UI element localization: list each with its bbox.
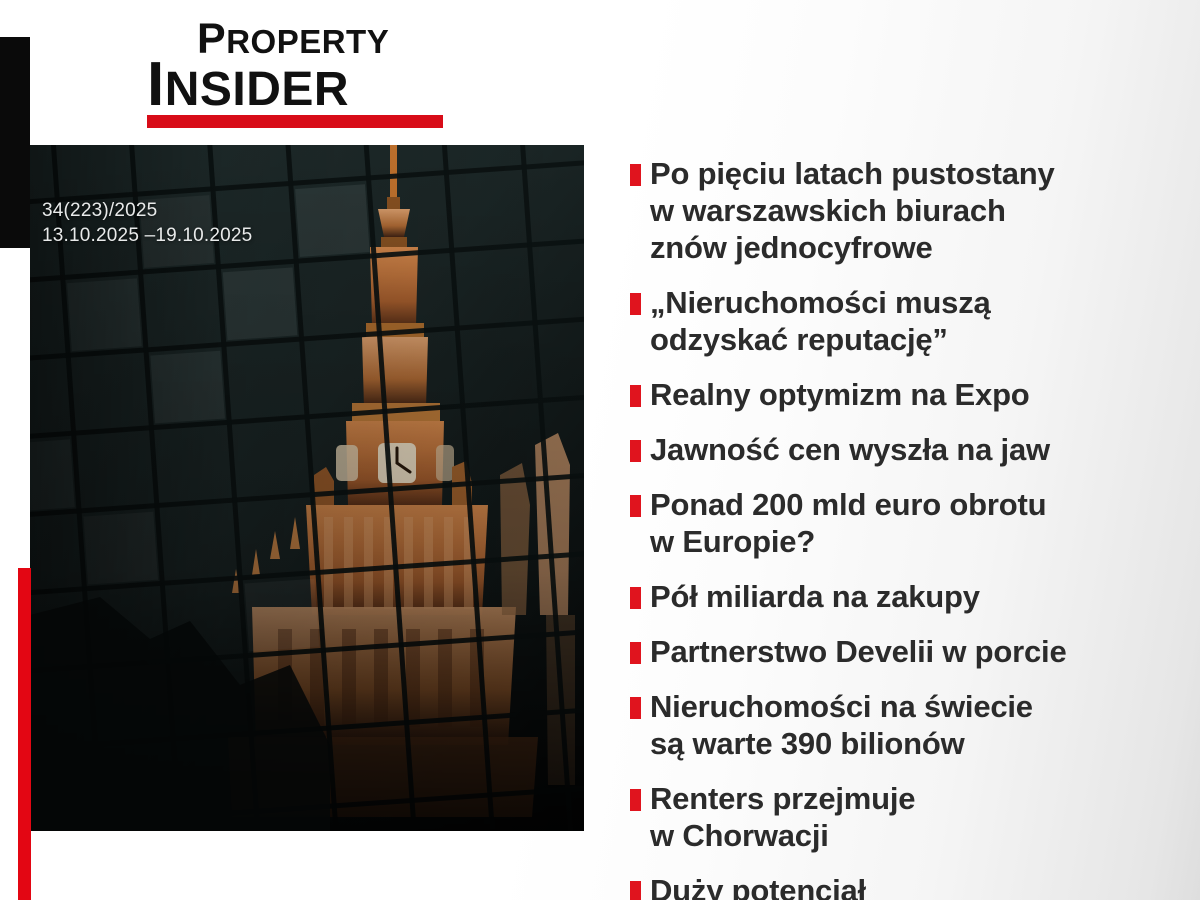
headline-line: są warte 390 bilionów <box>650 725 1033 762</box>
headline-line: odzyskać reputację” <box>650 321 991 358</box>
bullet-square-icon <box>630 881 641 900</box>
headline-text: Jawność cen wyszła na jaw <box>650 431 1050 468</box>
headline-text: Partnerstwo Develii w porcie <box>650 633 1067 670</box>
headline-line: w Chorwacji <box>650 817 915 854</box>
headline-text: Pół miliarda na zakupy <box>650 578 980 615</box>
headline-item[interactable]: Po pięciu latach pustostanyw warszawskic… <box>630 155 1175 266</box>
headline-item[interactable]: Pół miliarda na zakupy <box>630 578 1175 615</box>
left-red-accent-bar <box>18 568 31 900</box>
headline-text: Po pięciu latach pustostanyw warszawskic… <box>650 155 1055 266</box>
headline-item[interactable]: Nieruchomości na świeciesą warte 390 bil… <box>630 688 1175 762</box>
bullet-square-icon <box>630 164 641 186</box>
headline-text: Renters przejmujew Chorwacji <box>650 780 915 854</box>
logo-insider-rest: NSIDER <box>165 63 349 116</box>
logo-red-underline <box>147 115 443 128</box>
logo-word-insider: INSIDER <box>147 54 349 121</box>
headline-line: Partnerstwo Develii w porcie <box>650 633 1067 670</box>
left-black-accent-block <box>0 37 30 248</box>
masthead-logo: PROPERTY INSIDER <box>147 18 447 130</box>
headline-item[interactable]: Partnerstwo Develii w porcie <box>630 633 1175 670</box>
headline-line: w warszawskich biurach <box>650 192 1055 229</box>
headline-text: Duży potencjałw studentach <box>650 872 866 900</box>
newsletter-cover: PROPERTY INSIDER <box>0 0 1200 900</box>
headline-line: Jawność cen wyszła na jaw <box>650 431 1050 468</box>
headline-item[interactable]: Jawność cen wyszła na jaw <box>630 431 1175 468</box>
bullet-square-icon <box>630 293 641 315</box>
headline-text: Realny optymizm na Expo <box>650 376 1030 413</box>
headline-text: Nieruchomości na świeciesą warte 390 bil… <box>650 688 1033 762</box>
headline-line: znów jednocyfrowe <box>650 229 1055 266</box>
issue-number: 34(223)/2025 <box>42 198 252 223</box>
bullet-square-icon <box>630 587 641 609</box>
bullet-square-icon <box>630 642 641 664</box>
headline-item[interactable]: Renters przejmujew Chorwacji <box>630 780 1175 854</box>
headline-item[interactable]: Ponad 200 mld euro obrotuw Europie? <box>630 486 1175 560</box>
bullet-square-icon <box>630 495 641 517</box>
headline-list: Po pięciu latach pustostanyw warszawskic… <box>630 155 1175 900</box>
headline-line: Renters przejmuje <box>650 780 915 817</box>
bullet-square-icon <box>630 789 641 811</box>
headline-line: Pół miliarda na zakupy <box>650 578 980 615</box>
headline-line: „Nieruchomości muszą <box>650 284 991 321</box>
bullet-square-icon <box>630 385 641 407</box>
logo-insider-lead-letter: I <box>147 50 165 119</box>
headline-text: „Nieruchomości musząodzyskać reputację” <box>650 284 991 358</box>
headline-line: Nieruchomości na świecie <box>650 688 1033 725</box>
headline-line: Po pięciu latach pustostany <box>650 155 1055 192</box>
issue-date-range: 13.10.2025 –19.10.2025 <box>42 223 252 248</box>
headline-text: Ponad 200 mld euro obrotuw Europie? <box>650 486 1046 560</box>
bullet-square-icon <box>630 440 641 462</box>
headline-line: w Europie? <box>650 523 1046 560</box>
headline-line: Realny optymizm na Expo <box>650 376 1030 413</box>
headline-item[interactable]: „Nieruchomości musząodzyskać reputację” <box>630 284 1175 358</box>
headline-item[interactable]: Duży potencjałw studentach <box>630 872 1175 900</box>
headline-line: Duży potencjał <box>650 872 866 900</box>
bullet-square-icon <box>630 697 641 719</box>
issue-info: 34(223)/2025 13.10.2025 –19.10.2025 <box>42 198 252 248</box>
headline-item[interactable]: Realny optymizm na Expo <box>630 376 1175 413</box>
headline-line: Ponad 200 mld euro obrotu <box>650 486 1046 523</box>
